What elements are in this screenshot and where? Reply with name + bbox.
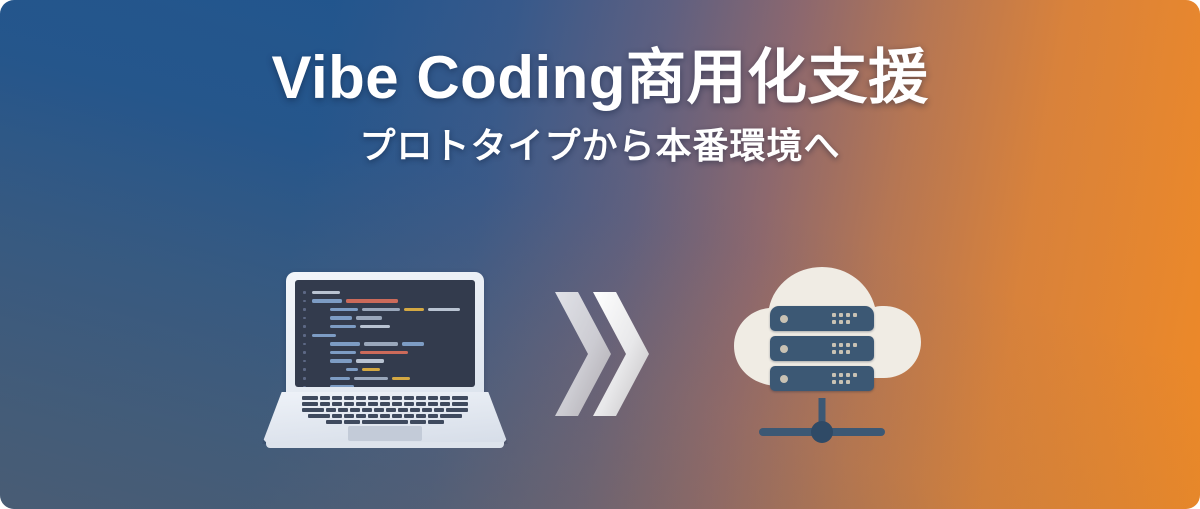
code-line xyxy=(303,383,466,387)
code-token xyxy=(346,368,358,371)
code-token xyxy=(362,308,400,311)
keyboard-key xyxy=(410,408,420,412)
keyboard-key xyxy=(302,408,324,412)
keyboard-key xyxy=(302,396,318,400)
keyboard-key xyxy=(344,414,354,418)
code-token xyxy=(404,308,424,311)
keyboard-key xyxy=(392,396,402,400)
code-token xyxy=(402,342,424,345)
keyboard-key xyxy=(344,402,354,406)
double-chevron-right-icon xyxy=(552,290,676,418)
code-token xyxy=(356,359,384,362)
keyboard-key xyxy=(452,396,468,400)
line-number-dot xyxy=(303,291,312,294)
code-token xyxy=(360,325,390,328)
keyboard-key xyxy=(404,402,414,406)
hero-banner: Vibe Coding商用化支援 プロトタイプから本番環境へ xyxy=(0,0,1200,509)
banner-text-block: Vibe Coding商用化支援 プロトタイプから本番環境へ xyxy=(0,46,1200,166)
code-line xyxy=(303,365,466,374)
banner-headline: Vibe Coding商用化支援 xyxy=(0,46,1200,111)
keyboard-key xyxy=(440,396,450,400)
line-number-dot xyxy=(303,334,312,337)
line-number-dot xyxy=(303,351,312,354)
keyboard-key xyxy=(344,396,354,400)
line-number-dot xyxy=(303,377,312,380)
keyboard-key xyxy=(452,402,468,406)
code-lines-container xyxy=(295,280,475,387)
code-token xyxy=(312,334,336,337)
line-number-dot xyxy=(303,317,312,320)
keyboard-key xyxy=(446,408,468,412)
keyboard-key xyxy=(392,402,402,406)
code-line xyxy=(303,322,466,331)
keyboard-key xyxy=(356,402,366,406)
keyboard-key xyxy=(428,420,444,424)
laptop-front-edge xyxy=(266,442,504,448)
code-token xyxy=(360,351,408,354)
keyboard-key xyxy=(416,414,426,418)
code-token xyxy=(330,325,356,328)
code-line xyxy=(303,374,466,383)
keyboard-key xyxy=(374,408,384,412)
keyboard-key xyxy=(362,408,372,412)
code-token xyxy=(330,377,350,380)
keyboard-key xyxy=(368,396,378,400)
keyboard-key xyxy=(434,408,444,412)
laptop-lid xyxy=(286,272,484,396)
laptop-screen xyxy=(295,280,475,387)
keyboard-key xyxy=(368,402,378,406)
code-line xyxy=(303,340,466,349)
line-number-dot xyxy=(303,368,312,371)
line-number-dot xyxy=(303,343,312,346)
keyboard-key xyxy=(368,414,378,418)
laptop-code-icon xyxy=(262,272,508,460)
code-line xyxy=(303,288,466,297)
keyboard-key xyxy=(332,396,342,400)
line-number-dot xyxy=(303,325,312,328)
keyboard-key xyxy=(386,408,396,412)
keyboard-key xyxy=(308,414,330,418)
code-token xyxy=(330,359,352,362)
keyboard-key xyxy=(428,402,438,406)
code-token xyxy=(312,291,340,294)
keyboard-key xyxy=(398,408,408,412)
code-line xyxy=(303,297,466,306)
code-token xyxy=(362,368,380,371)
code-line xyxy=(303,331,466,340)
keyboard-key xyxy=(380,396,390,400)
keyboard-row xyxy=(292,396,478,400)
laptop-trackpad xyxy=(348,426,422,441)
keyboard-key xyxy=(380,414,390,418)
keyboard-key xyxy=(380,402,390,406)
network-connector-icon xyxy=(718,258,926,458)
keyboard-key xyxy=(404,414,414,418)
line-number-dot xyxy=(303,386,312,387)
code-token xyxy=(428,308,460,311)
keyboard-row xyxy=(292,408,478,412)
code-token xyxy=(364,342,398,345)
keyboard-key xyxy=(428,414,438,418)
code-token xyxy=(346,299,398,302)
banner-subheadline: プロトタイプから本番環境へ xyxy=(0,125,1200,166)
keyboard-key xyxy=(344,420,360,424)
code-token xyxy=(330,342,360,345)
keyboard-row xyxy=(292,402,478,406)
code-line xyxy=(303,357,466,366)
keyboard-key xyxy=(326,408,336,412)
keyboard-key xyxy=(332,402,342,406)
code-token xyxy=(330,316,352,319)
keyboard-key xyxy=(338,408,348,412)
keyboard-key xyxy=(416,396,426,400)
laptop-keyboard xyxy=(292,396,478,424)
line-number-dot xyxy=(303,300,312,303)
code-token xyxy=(392,377,410,380)
code-token xyxy=(330,385,354,387)
keyboard-key xyxy=(404,396,414,400)
code-line xyxy=(303,348,466,357)
code-token xyxy=(330,308,358,311)
keyboard-key xyxy=(356,396,366,400)
keyboard-key xyxy=(356,414,366,418)
keyboard-key xyxy=(326,420,342,424)
keyboard-key xyxy=(416,402,426,406)
illustration-row xyxy=(0,258,1200,473)
code-line xyxy=(303,314,466,323)
keyboard-key xyxy=(350,408,360,412)
keyboard-key xyxy=(362,420,408,424)
keyboard-key xyxy=(410,420,426,424)
keyboard-key xyxy=(428,396,438,400)
code-token xyxy=(330,351,356,354)
keyboard-key xyxy=(332,414,342,418)
code-token xyxy=(356,316,382,319)
keyboard-row xyxy=(292,420,478,424)
code-line xyxy=(303,305,466,314)
keyboard-key xyxy=(392,414,402,418)
keyboard-key xyxy=(422,408,432,412)
keyboard-key xyxy=(440,402,450,406)
keyboard-key xyxy=(302,402,318,406)
keyboard-row xyxy=(292,414,478,418)
line-number-dot xyxy=(303,360,312,363)
cloud-server-icon xyxy=(718,258,926,458)
keyboard-key xyxy=(440,414,462,418)
keyboard-key xyxy=(320,396,330,400)
code-token xyxy=(312,299,342,302)
chevron-right-icon-2 xyxy=(590,290,652,418)
code-token xyxy=(354,377,388,380)
line-number-dot xyxy=(303,308,312,311)
keyboard-key xyxy=(320,402,330,406)
